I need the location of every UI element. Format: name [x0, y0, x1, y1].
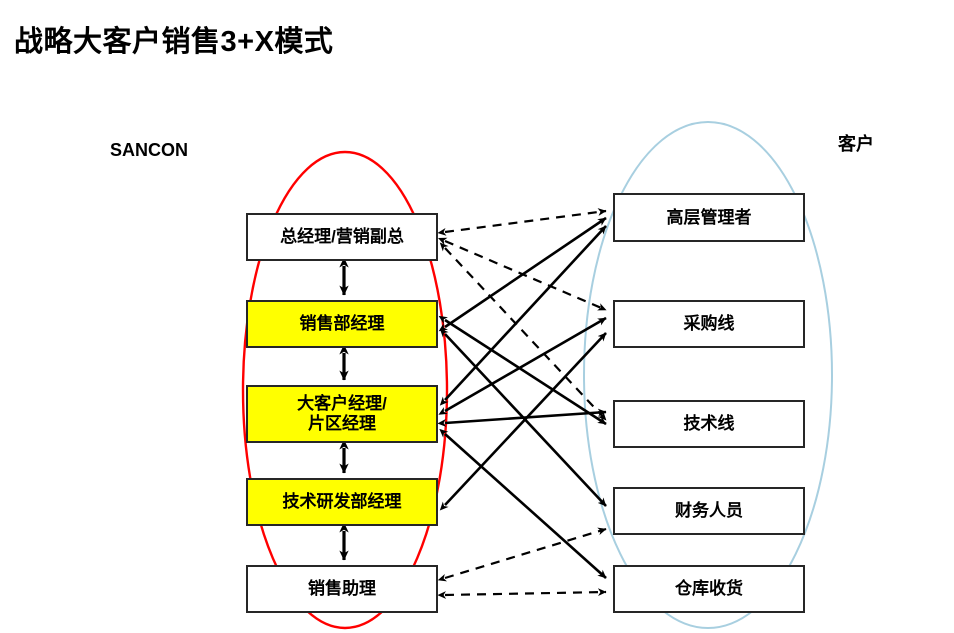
node-general-manager[interactable]: 总经理/营销副总 [246, 213, 438, 261]
node-label-line-2: 片区经理 [308, 414, 376, 434]
connector-layer [0, 0, 954, 633]
node-warehouse-receiving[interactable]: 仓库收货 [613, 565, 805, 613]
connector-kam-exec [445, 226, 606, 400]
node-label-line-1: 大客户经理/ [297, 394, 387, 414]
node-label: 高层管理者 [667, 208, 752, 228]
connector-assistant-finance [445, 529, 606, 578]
cross-connectors-solid [445, 218, 606, 578]
node-label: 技术研发部经理 [283, 492, 402, 512]
slide-canvas: 战略大客户销售3+X模式 SANCON 客户 [0, 0, 954, 633]
node-label: 技术线 [684, 414, 735, 434]
node-senior-executive[interactable]: 高层管理者 [613, 193, 805, 242]
connector-gm-exec [445, 211, 606, 232]
node-label: 财务人员 [675, 501, 743, 521]
node-label: 销售部经理 [300, 314, 385, 334]
connector-kam-purchasing [445, 318, 606, 411]
connector-kam-warehouse [445, 434, 606, 578]
node-sales-manager[interactable]: 销售部经理 [246, 300, 438, 348]
node-rd-manager[interactable]: 技术研发部经理 [246, 478, 438, 526]
node-technical-line[interactable]: 技术线 [613, 400, 805, 448]
node-label: 仓库收货 [675, 579, 743, 599]
node-label: 总经理/营销副总 [280, 227, 404, 247]
node-label: 采购线 [684, 314, 735, 334]
node-sales-assistant[interactable]: 销售助理 [246, 565, 438, 613]
node-finance-staff[interactable]: 财务人员 [613, 487, 805, 535]
node-key-account-manager[interactable]: 大客户经理/ 片区经理 [246, 385, 438, 443]
node-label: 销售助理 [308, 579, 376, 599]
connector-assistant-warehouse [445, 592, 606, 595]
node-purchasing-line[interactable]: 采购线 [613, 300, 805, 348]
cross-connectors-dashed [445, 211, 606, 595]
